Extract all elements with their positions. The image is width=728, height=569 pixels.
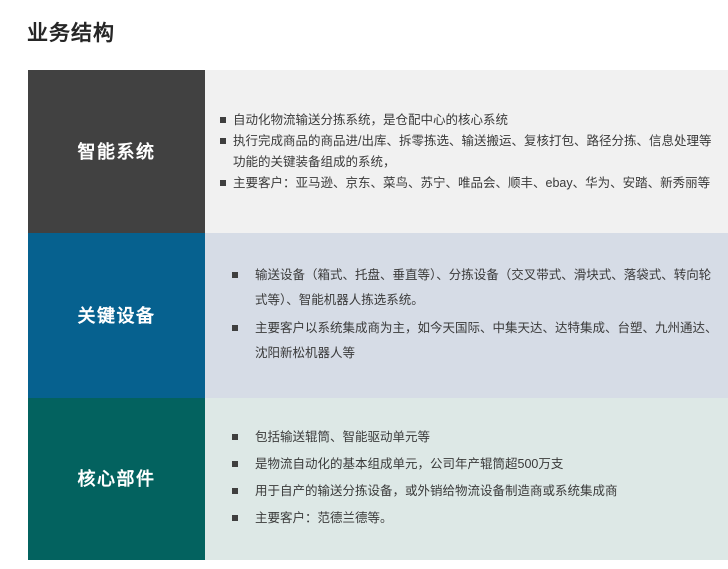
row-content-cell-intelligent-system: 自动化物流输送分拣系统，是仓配中心的核心系统 执行完成商品的商品进/出库、拆零拣…	[205, 70, 728, 233]
business-structure-table: 智能系统 自动化物流输送分拣系统，是仓配中心的核心系统 执行完成商品的商品进/出…	[28, 70, 728, 560]
table-row: 关键设备 输送设备（箱式、托盘、垂直等）、分拣设备（交叉带式、滑块式、落袋式、转…	[28, 233, 728, 398]
list-item: 自动化物流输送分拣系统，是仓配中心的核心系统	[220, 110, 726, 131]
row-label-text: 关键设备	[78, 304, 156, 328]
list-item: 输送设备（箱式、托盘、垂直等）、分拣设备（交叉带式、滑块式、落袋式、转向轮式等）…	[232, 263, 726, 313]
page-title: 业务结构	[27, 19, 115, 49]
list-item: 用于自产的输送分拣设备，或外销给物流设备制造商或系统集成商	[232, 479, 726, 504]
list-item-text: 主要客户：范德兰德等。	[255, 506, 726, 531]
square-bullet-icon	[232, 515, 238, 521]
list-item-text: 用于自产的输送分拣设备，或外销给物流设备制造商或系统集成商	[255, 479, 726, 504]
square-bullet-icon	[232, 461, 238, 467]
list-item-text: 自动化物流输送分拣系统，是仓配中心的核心系统	[233, 110, 726, 131]
list-item: 主要客户：范德兰德等。	[232, 506, 726, 531]
list-item-text: 主要客户：亚马逊、京东、菜鸟、苏宁、唯品会、顺丰、ebay、华为、安踏、新秀丽等	[233, 173, 726, 194]
list-item: 包括输送辊筒、智能驱动单元等	[232, 425, 726, 450]
list-item-text: 是物流自动化的基本组成单元，公司年产辊筒超500万支	[255, 452, 726, 477]
row-label-text: 智能系统	[78, 140, 156, 164]
list-item: 是物流自动化的基本组成单元，公司年产辊筒超500万支	[232, 452, 726, 477]
row-content-cell-key-equipment: 输送设备（箱式、托盘、垂直等）、分拣设备（交叉带式、滑块式、落袋式、转向轮式等）…	[205, 233, 728, 398]
bullet-list: 输送设备（箱式、托盘、垂直等）、分拣设备（交叉带式、滑块式、落袋式、转向轮式等）…	[205, 263, 726, 369]
row-label-text: 核心部件	[78, 467, 156, 491]
square-bullet-icon	[232, 325, 238, 331]
square-bullet-icon	[232, 272, 238, 278]
table-row: 智能系统 自动化物流输送分拣系统，是仓配中心的核心系统 执行完成商品的商品进/出…	[28, 70, 728, 233]
square-bullet-icon	[220, 180, 226, 186]
row-label-cell-key-equipment[interactable]: 关键设备	[28, 233, 205, 398]
square-bullet-icon	[220, 138, 226, 144]
table-row: 核心部件 包括输送辊筒、智能驱动单元等 是物流自动化的基本组成单元，公司年产辊筒…	[28, 398, 728, 560]
square-bullet-icon	[232, 488, 238, 494]
list-item: 执行完成商品的商品进/出库、拆零拣选、输送搬运、复核打包、路径分拣、信息处理等功…	[220, 131, 726, 173]
list-item: 主要客户：亚马逊、京东、菜鸟、苏宁、唯品会、顺丰、ebay、华为、安踏、新秀丽等	[220, 173, 726, 194]
list-item: 主要客户以系统集成商为主，如今天国际、中集天达、达特集成、台塑、九州通达、沈阳新…	[232, 316, 726, 366]
bullet-list: 自动化物流输送分拣系统，是仓配中心的核心系统 执行完成商品的商品进/出库、拆零拣…	[205, 110, 726, 194]
row-label-cell-intelligent-system[interactable]: 智能系统	[28, 70, 205, 233]
list-item-text: 输送设备（箱式、托盘、垂直等）、分拣设备（交叉带式、滑块式、落袋式、转向轮式等）…	[255, 263, 726, 313]
bullet-list: 包括输送辊筒、智能驱动单元等 是物流自动化的基本组成单元，公司年产辊筒超500万…	[205, 425, 726, 533]
row-label-cell-core-components[interactable]: 核心部件	[28, 398, 205, 560]
list-item-text: 主要客户以系统集成商为主，如今天国际、中集天达、达特集成、台塑、九州通达、沈阳新…	[255, 316, 726, 366]
list-item-text: 包括输送辊筒、智能驱动单元等	[255, 425, 726, 450]
list-item-text: 执行完成商品的商品进/出库、拆零拣选、输送搬运、复核打包、路径分拣、信息处理等功…	[233, 131, 726, 173]
square-bullet-icon	[232, 434, 238, 440]
row-content-cell-core-components: 包括输送辊筒、智能驱动单元等 是物流自动化的基本组成单元，公司年产辊筒超500万…	[205, 398, 728, 560]
square-bullet-icon	[220, 117, 226, 123]
